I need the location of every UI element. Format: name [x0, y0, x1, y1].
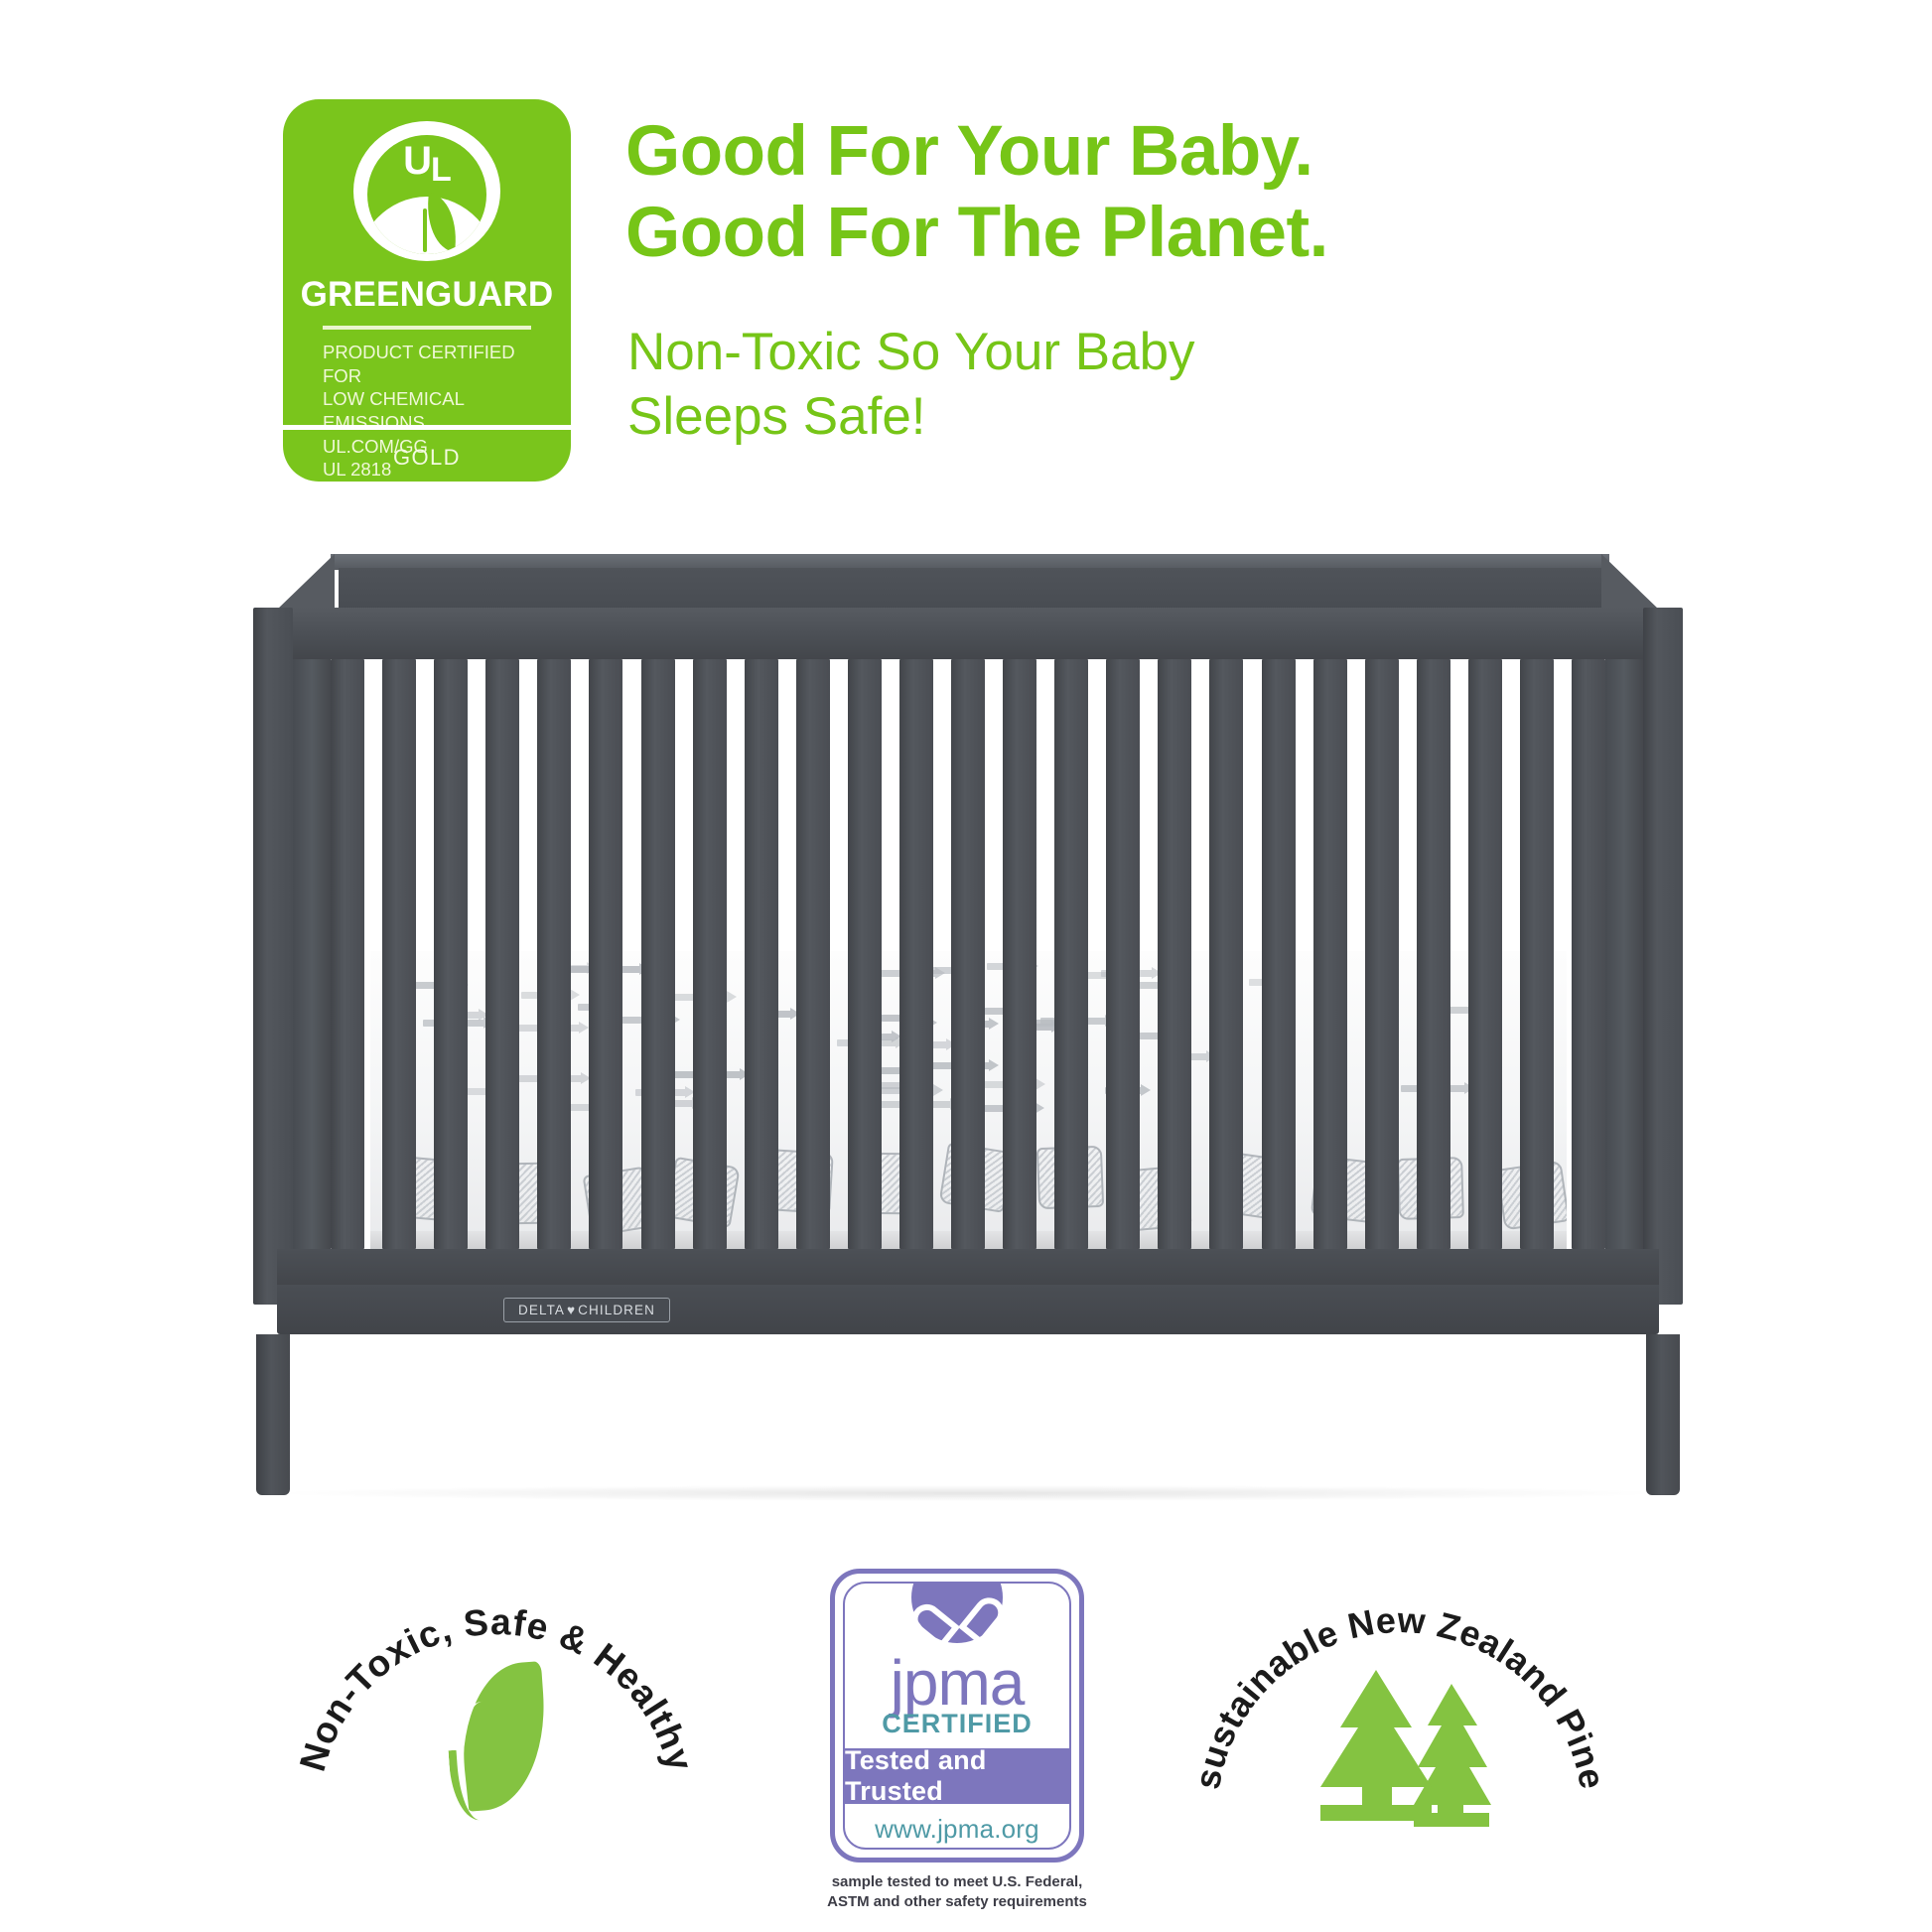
crib-slat [796, 659, 830, 1249]
ul-letter-u: U [403, 139, 431, 183]
crib-slat [485, 659, 519, 1249]
subheadline-line-1: Non-Toxic So Your Baby [627, 321, 1521, 385]
crib-foot-rail [277, 1285, 1659, 1334]
jpma-url[interactable]: www.jpma.org [845, 1814, 1069, 1845]
jpma-disclaimer: sample tested to meet U.S. Federal, ASTM… [808, 1872, 1106, 1912]
crib-slat [1209, 659, 1243, 1249]
jpma-tagline: Tested and Trusted [845, 1745, 1069, 1807]
leaf-icon [407, 1654, 586, 1843]
jpma-disclaimer-line-2: ASTM and other safety requirements [808, 1892, 1106, 1912]
crib-slat [1106, 659, 1140, 1249]
crib-floor-shadow [283, 1485, 1653, 1501]
crib-slat [434, 659, 468, 1249]
crib-slat [1417, 659, 1450, 1249]
heart-icon: ♥ [567, 1303, 576, 1317]
crib-slat [745, 659, 778, 1249]
crib-slat [951, 659, 985, 1249]
crib-stile-right [1605, 659, 1643, 1249]
crib-top-left-bevel [277, 554, 335, 610]
crib-leg-right [1646, 1334, 1680, 1495]
greenguard-level-label: GOLD [283, 445, 571, 471]
crib-slat [1262, 659, 1296, 1249]
crib-slat [382, 659, 416, 1249]
crib-product-image: DELTA ♥ CHILDREN [253, 546, 1683, 1489]
badge-sustainable-nz-pine: sustainable New Zealand Pine [1191, 1559, 1608, 1932]
brand-word-delta: DELTA [518, 1303, 565, 1317]
jpma-disclaimer-line-1: sample tested to meet U.S. Federal, [808, 1872, 1106, 1892]
pine-trees-icon [1295, 1650, 1509, 1835]
crib-leg-left [256, 1334, 290, 1495]
crib-slat [589, 659, 622, 1249]
crib-slat [1158, 659, 1191, 1249]
crib-slat [1313, 659, 1347, 1249]
crib-slat [1365, 659, 1399, 1249]
jpma-certified-label: CERTIFIED [845, 1709, 1069, 1739]
headline-line-2: Good For The Planet. [625, 193, 1618, 274]
product-infographic: UL GREENGUARD PRODUCT CERTIFIED FOR LOW … [0, 0, 1932, 1932]
brand-word-children: CHILDREN [578, 1303, 655, 1317]
headline: Good For Your Baby. Good For The Planet. [625, 111, 1618, 275]
crib-slat [848, 659, 882, 1249]
ul-letter-l: L [431, 151, 451, 189]
crib-slat [1572, 659, 1605, 1249]
crib-corner-post-right [1643, 608, 1683, 1305]
crib-slat [331, 659, 364, 1249]
crib-front-top-rail [277, 608, 1659, 659]
subheadline: Non-Toxic So Your Baby Sleeps Safe! [627, 321, 1521, 449]
crib-slat [899, 659, 933, 1249]
greenguard-gold-badge: UL GREENGUARD PRODUCT CERTIFIED FOR LOW … [283, 99, 571, 482]
crib-slat [1468, 659, 1502, 1249]
crib-slat [641, 659, 675, 1249]
crib-slats [331, 659, 1605, 1249]
greenguard-title: GREENGUARD [301, 275, 554, 315]
brand-logo-plaque: DELTA ♥ CHILDREN [503, 1298, 670, 1322]
crib-slat [693, 659, 727, 1249]
jpma-logo-wordmark: jpma [845, 1651, 1069, 1715]
badge-non-toxic-safe-healthy: Non-Toxic, Safe & Healthy [288, 1559, 705, 1932]
crib-slat [1054, 659, 1088, 1249]
greenguard-sub-line-1: PRODUCT CERTIFIED FOR [323, 341, 531, 387]
badge-jpma-certified: jpma CERTIFIED Tested and Trusted www.jp… [757, 1559, 1173, 1932]
parent-child-heart-icon [911, 1582, 1003, 1643]
certification-badges-row: Non-Toxic, Safe & Healthy [0, 1559, 1932, 1932]
greenguard-gold-divider [283, 425, 571, 430]
subheadline-line-2: Sleeps Safe! [627, 385, 1521, 450]
crib-slat [1003, 659, 1036, 1249]
headline-line-1: Good For Your Baby. [625, 111, 1618, 193]
crib-corner-post-left [253, 608, 293, 1305]
ul-leaf-icon: UL [353, 121, 500, 261]
crib-slat [1520, 659, 1554, 1249]
crib-base-rail [277, 1249, 1659, 1285]
crib-top-right-bevel [1601, 554, 1659, 610]
crib-back-panel [339, 568, 1601, 610]
greenguard-divider [323, 326, 531, 330]
crib-slat [537, 659, 571, 1249]
crib-stile-left [293, 659, 331, 1249]
